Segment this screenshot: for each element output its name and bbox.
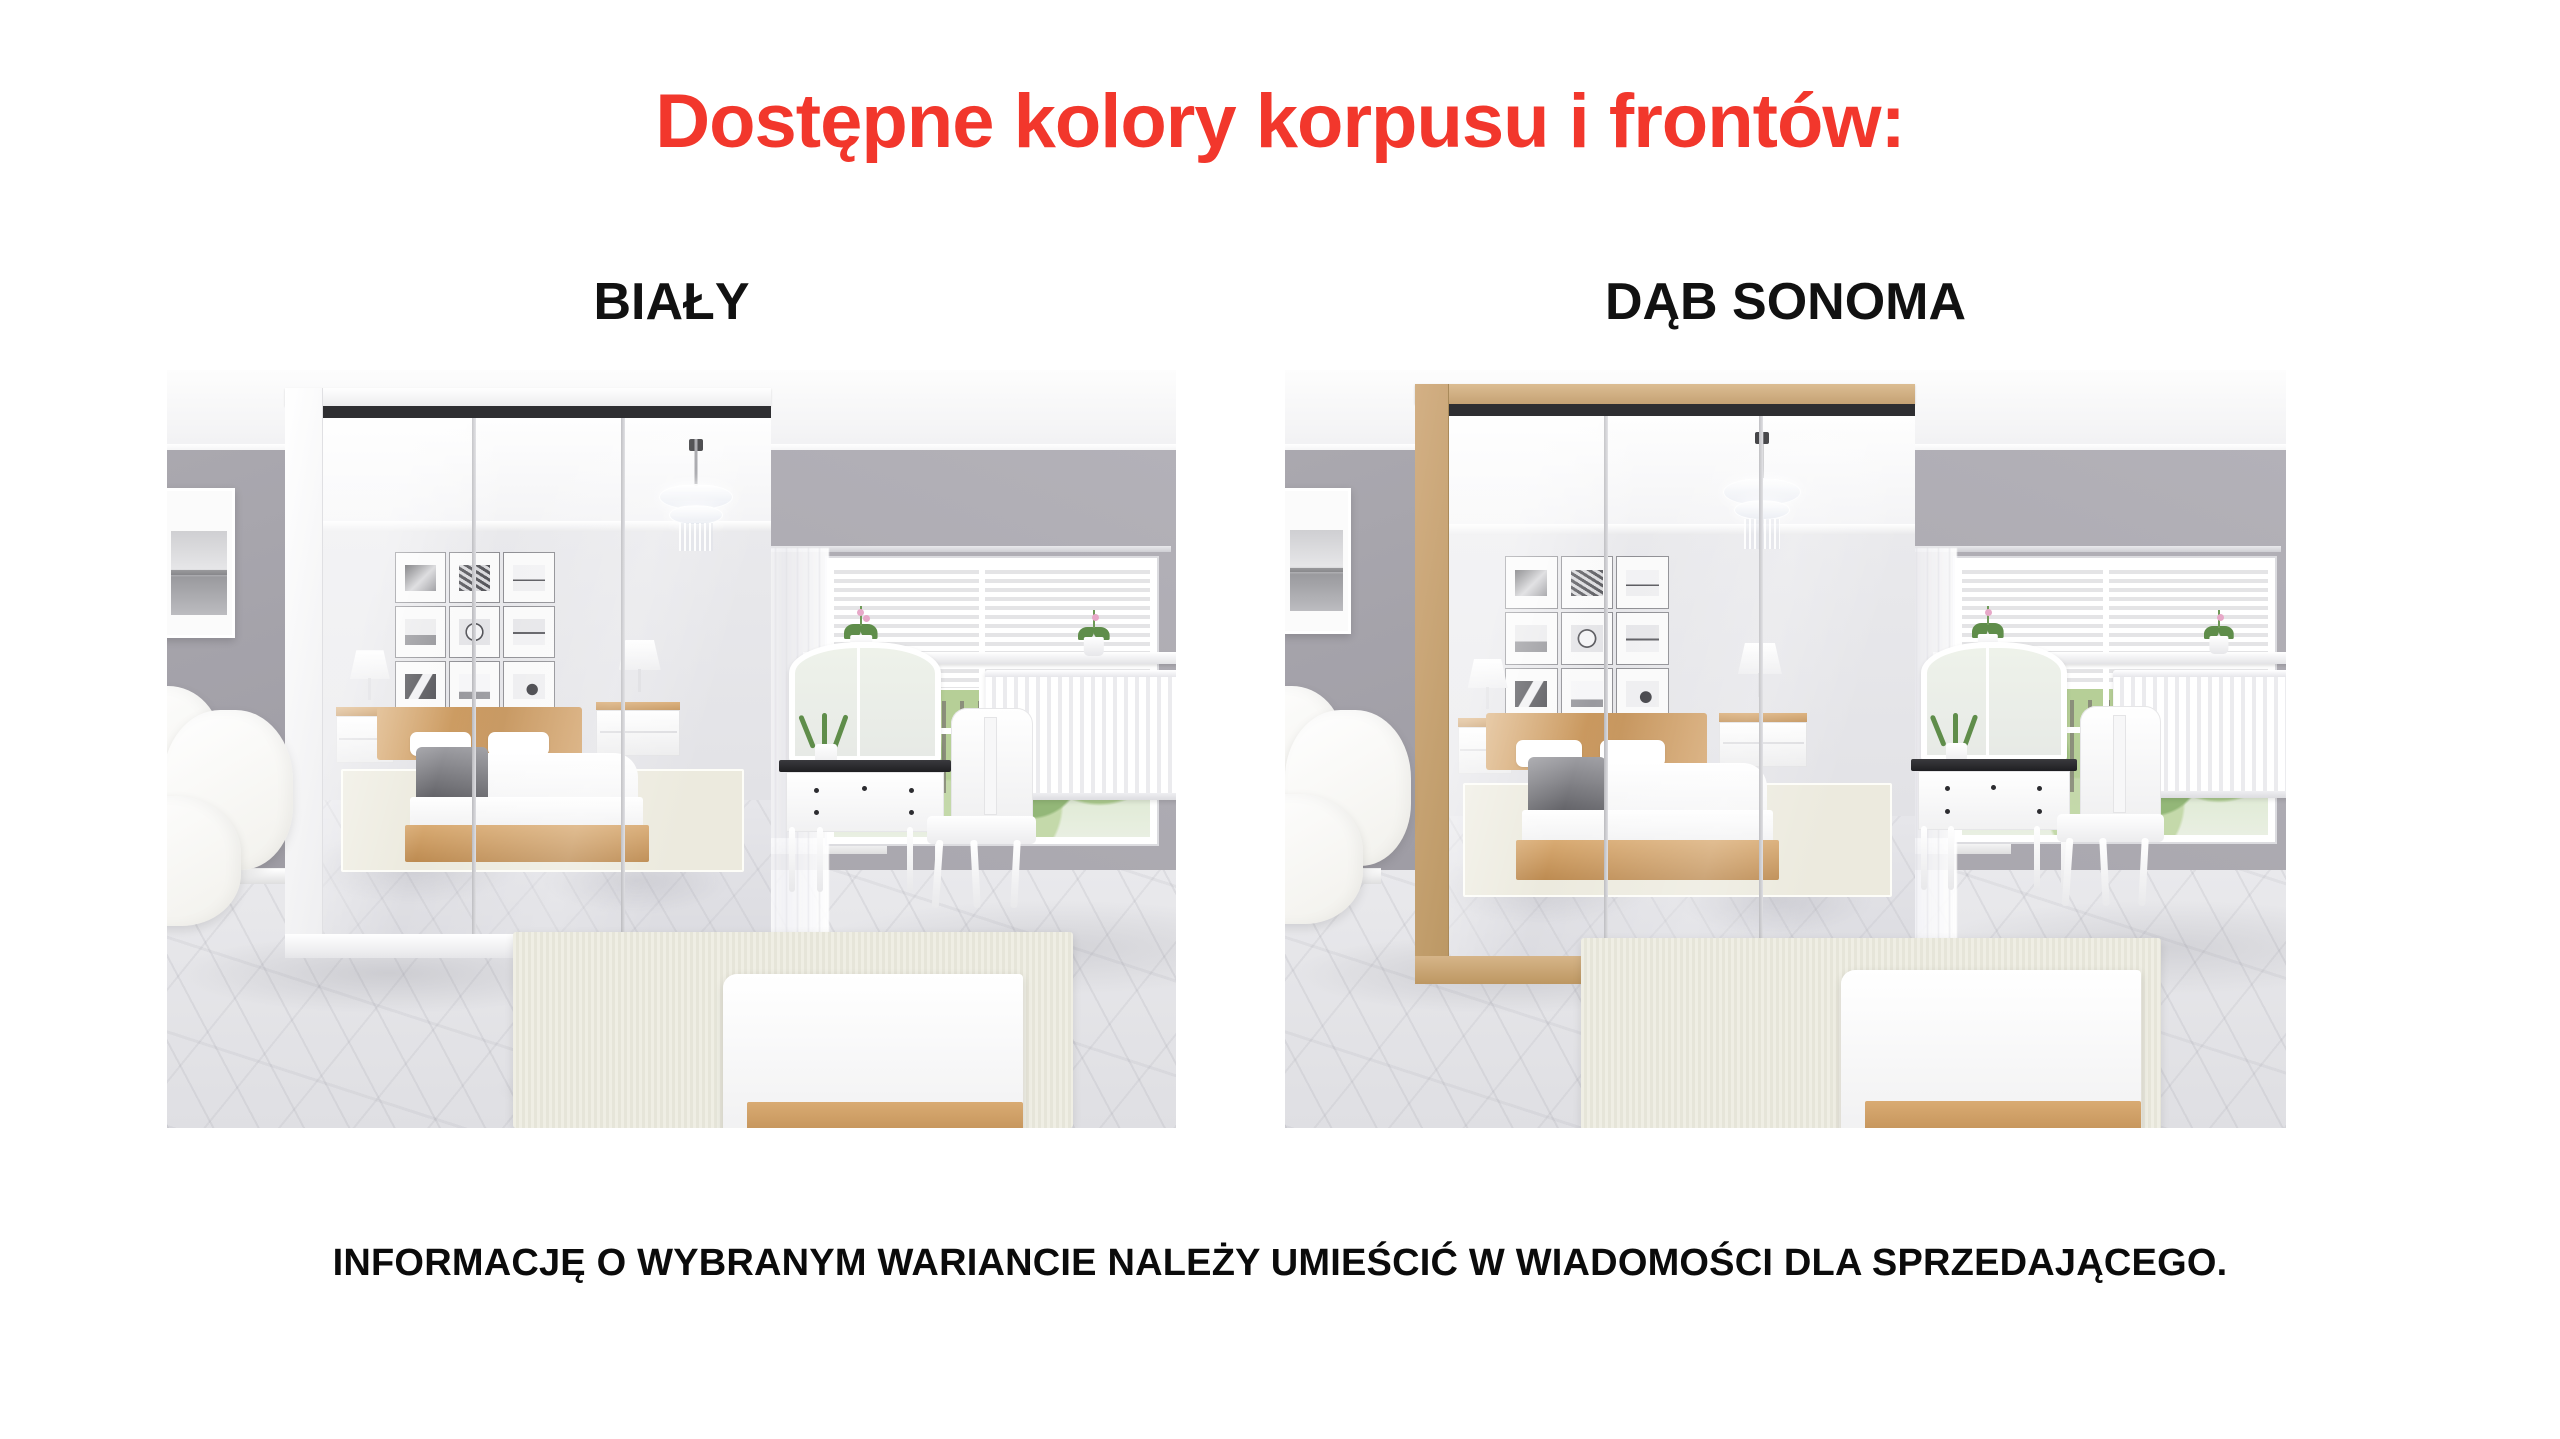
vanity-table [779,642,951,892]
vanity-drawers [786,772,944,832]
vanity-black-top [779,760,951,773]
variant-photo-white[interactable] [167,370,1176,1128]
orchid-plant-right [1077,610,1111,656]
chair-leg [2139,838,2150,906]
vanity-black-top [1911,759,2077,771]
drawer-knob [2037,809,2042,814]
vanity-leg [817,827,823,892]
chair-backrest [951,708,1034,824]
bed-frame-wood [747,1102,1023,1128]
drawer-knob [1991,785,1996,790]
chair-white [2057,706,2173,906]
wardrobe-top-rail [1449,404,1915,416]
wardrobe-top-rail [323,406,771,418]
orchid-bloom [2217,614,2224,621]
chair-leg [1010,840,1021,908]
variant-label-white: BIAŁY [167,272,1176,332]
plant-leaf [1953,713,1958,746]
drawer-knob [1945,809,1950,814]
drawer-knob [2037,786,2042,791]
page-title: Dostępne kolory korpusu i frontów: [0,78,2560,165]
bed-corner-foreground [1841,970,2141,1128]
orchid-plant-right [2203,610,2235,654]
chair-leg [2062,838,2074,906]
vanity-leg [2034,826,2040,890]
chair-leg [932,840,944,908]
mirror-gloss-sheen [1449,416,1915,956]
drawer-knob [814,810,819,815]
variant-label-oak-sonoma: DĄB SONOMA [1285,272,2286,332]
orchid-bloom [863,615,870,622]
wardrobe-mirror-doors[interactable] [323,418,771,934]
pouf-armchair [1285,686,1427,936]
drawer-knob [1945,786,1950,791]
wardrobe-white[interactable] [285,388,771,958]
wall-art-photo [171,531,227,615]
vanity-leg [1948,826,1954,890]
vanity-leg [1921,826,1927,890]
orchid-pot [2209,636,2228,654]
footer-instruction: INFORMACJĘ O WYBRANYM WARIANCIE NALEŻY U… [0,1242,2560,1285]
plant-leaf [1962,714,1978,747]
vanity-leg [907,827,913,892]
drawer-knob [909,788,914,793]
wardrobe-oak-sonoma[interactable] [1415,384,1915,984]
orchid-bloom [1092,614,1099,621]
vanity-leg [789,827,795,892]
wall-art-framed-photo [1285,488,1351,634]
vanity-drawers [1918,771,2071,831]
chair-white [927,708,1045,908]
wall-art-framed-photo [167,488,235,638]
chair-leg [970,840,981,908]
drawer-knob [814,788,819,793]
mirror-gloss-sheen [323,418,771,934]
bed-frame-wood [1865,1101,2141,1128]
chair-leg [2099,838,2110,906]
chair-seat [2057,814,2164,842]
drawer-knob [909,810,914,815]
orchid-bloom [1985,609,1992,616]
wardrobe-top-panel [1415,384,1915,404]
bed-corner-foreground [723,974,1023,1128]
wall-art-photo [1290,530,1343,611]
wardrobe-mirror-doors[interactable] [1449,416,1915,956]
drawer-knob [862,786,867,791]
product-color-options-panel: Dostępne kolory korpusu i frontów: BIAŁY… [0,0,2560,1439]
pouf-armchair [167,686,311,936]
variant-photo-oak-sonoma[interactable] [1285,370,2286,1128]
orchid-pot [1084,637,1104,656]
vanity-plant [1934,711,1978,765]
vanity-table [1911,642,2077,890]
chair-backrest [2080,706,2161,822]
wardrobe-top-panel [285,388,771,406]
plant-leaf [822,713,827,748]
